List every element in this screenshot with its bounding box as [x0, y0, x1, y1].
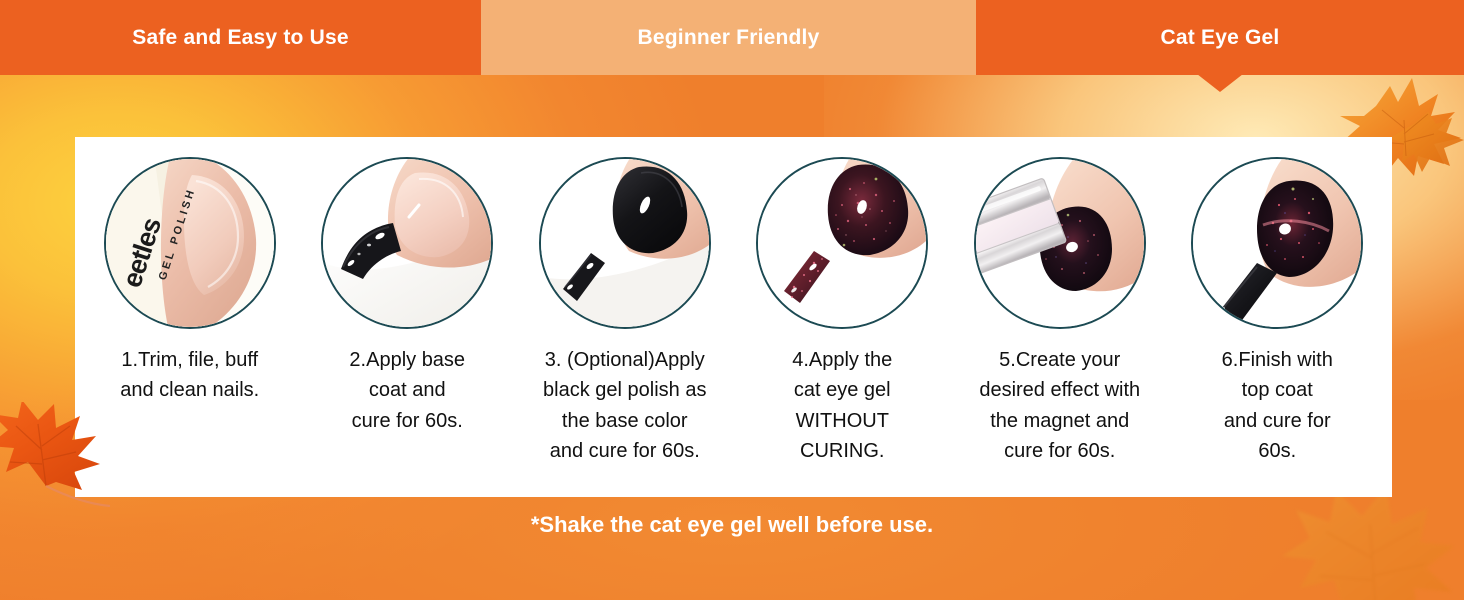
step-1-caption: 1.Trim, file, buff and clean nails.	[81, 345, 299, 406]
step-5-caption: 5.Create your desired effect with the ma…	[951, 345, 1169, 467]
tab-bar: Safe and Easy to Use Beginner Friendly C…	[0, 0, 1464, 75]
active-tab-pointer-icon	[1197, 74, 1243, 92]
tab-label: Beginner Friendly	[638, 26, 820, 50]
step-4-image	[756, 157, 928, 329]
step-1-image: eetles GEL POLISH	[104, 157, 276, 329]
step-2-caption: 2.Apply base coat and cure for 60s.	[299, 345, 517, 436]
step-6-caption: 6.Finish with top coat and cure for 60s.	[1169, 345, 1387, 467]
step-4: 4.Apply the cat eye gel WITHOUT CURING.	[734, 137, 952, 497]
shake-note: *Shake the cat eye gel well before use.	[0, 512, 1464, 538]
step-6: 6.Finish with top coat and cure for 60s.	[1169, 137, 1387, 497]
tab-beginner-friendly[interactable]: Beginner Friendly	[481, 0, 976, 75]
step-5: 5.Create your desired effect with the ma…	[951, 137, 1169, 497]
step-4-caption: 4.Apply the cat eye gel WITHOUT CURING.	[734, 345, 952, 467]
step-5-image	[974, 157, 1146, 329]
step-3-image	[539, 157, 711, 329]
step-1: eetles GEL POLISH 1.Trim, file, buff and…	[81, 137, 299, 497]
tab-cat-eye-gel[interactable]: Cat Eye Gel	[976, 0, 1464, 75]
tab-label: Safe and Easy to Use	[132, 26, 348, 50]
step-2: 2.Apply base coat and cure for 60s.	[299, 137, 517, 497]
step-3: 3. (Optional)Apply black gel polish as t…	[516, 137, 734, 497]
tab-label: Cat Eye Gel	[1161, 26, 1280, 50]
tab-safe-and-easy-to-use[interactable]: Safe and Easy to Use	[0, 0, 481, 75]
step-6-image	[1191, 157, 1363, 329]
product-instruction-banner: Safe and Easy to Use Beginner Friendly C…	[0, 0, 1464, 600]
steps-card: eetles GEL POLISH 1.Trim, file, buff and…	[75, 137, 1392, 497]
step-3-caption: 3. (Optional)Apply black gel polish as t…	[516, 345, 734, 467]
step-2-image	[321, 157, 493, 329]
